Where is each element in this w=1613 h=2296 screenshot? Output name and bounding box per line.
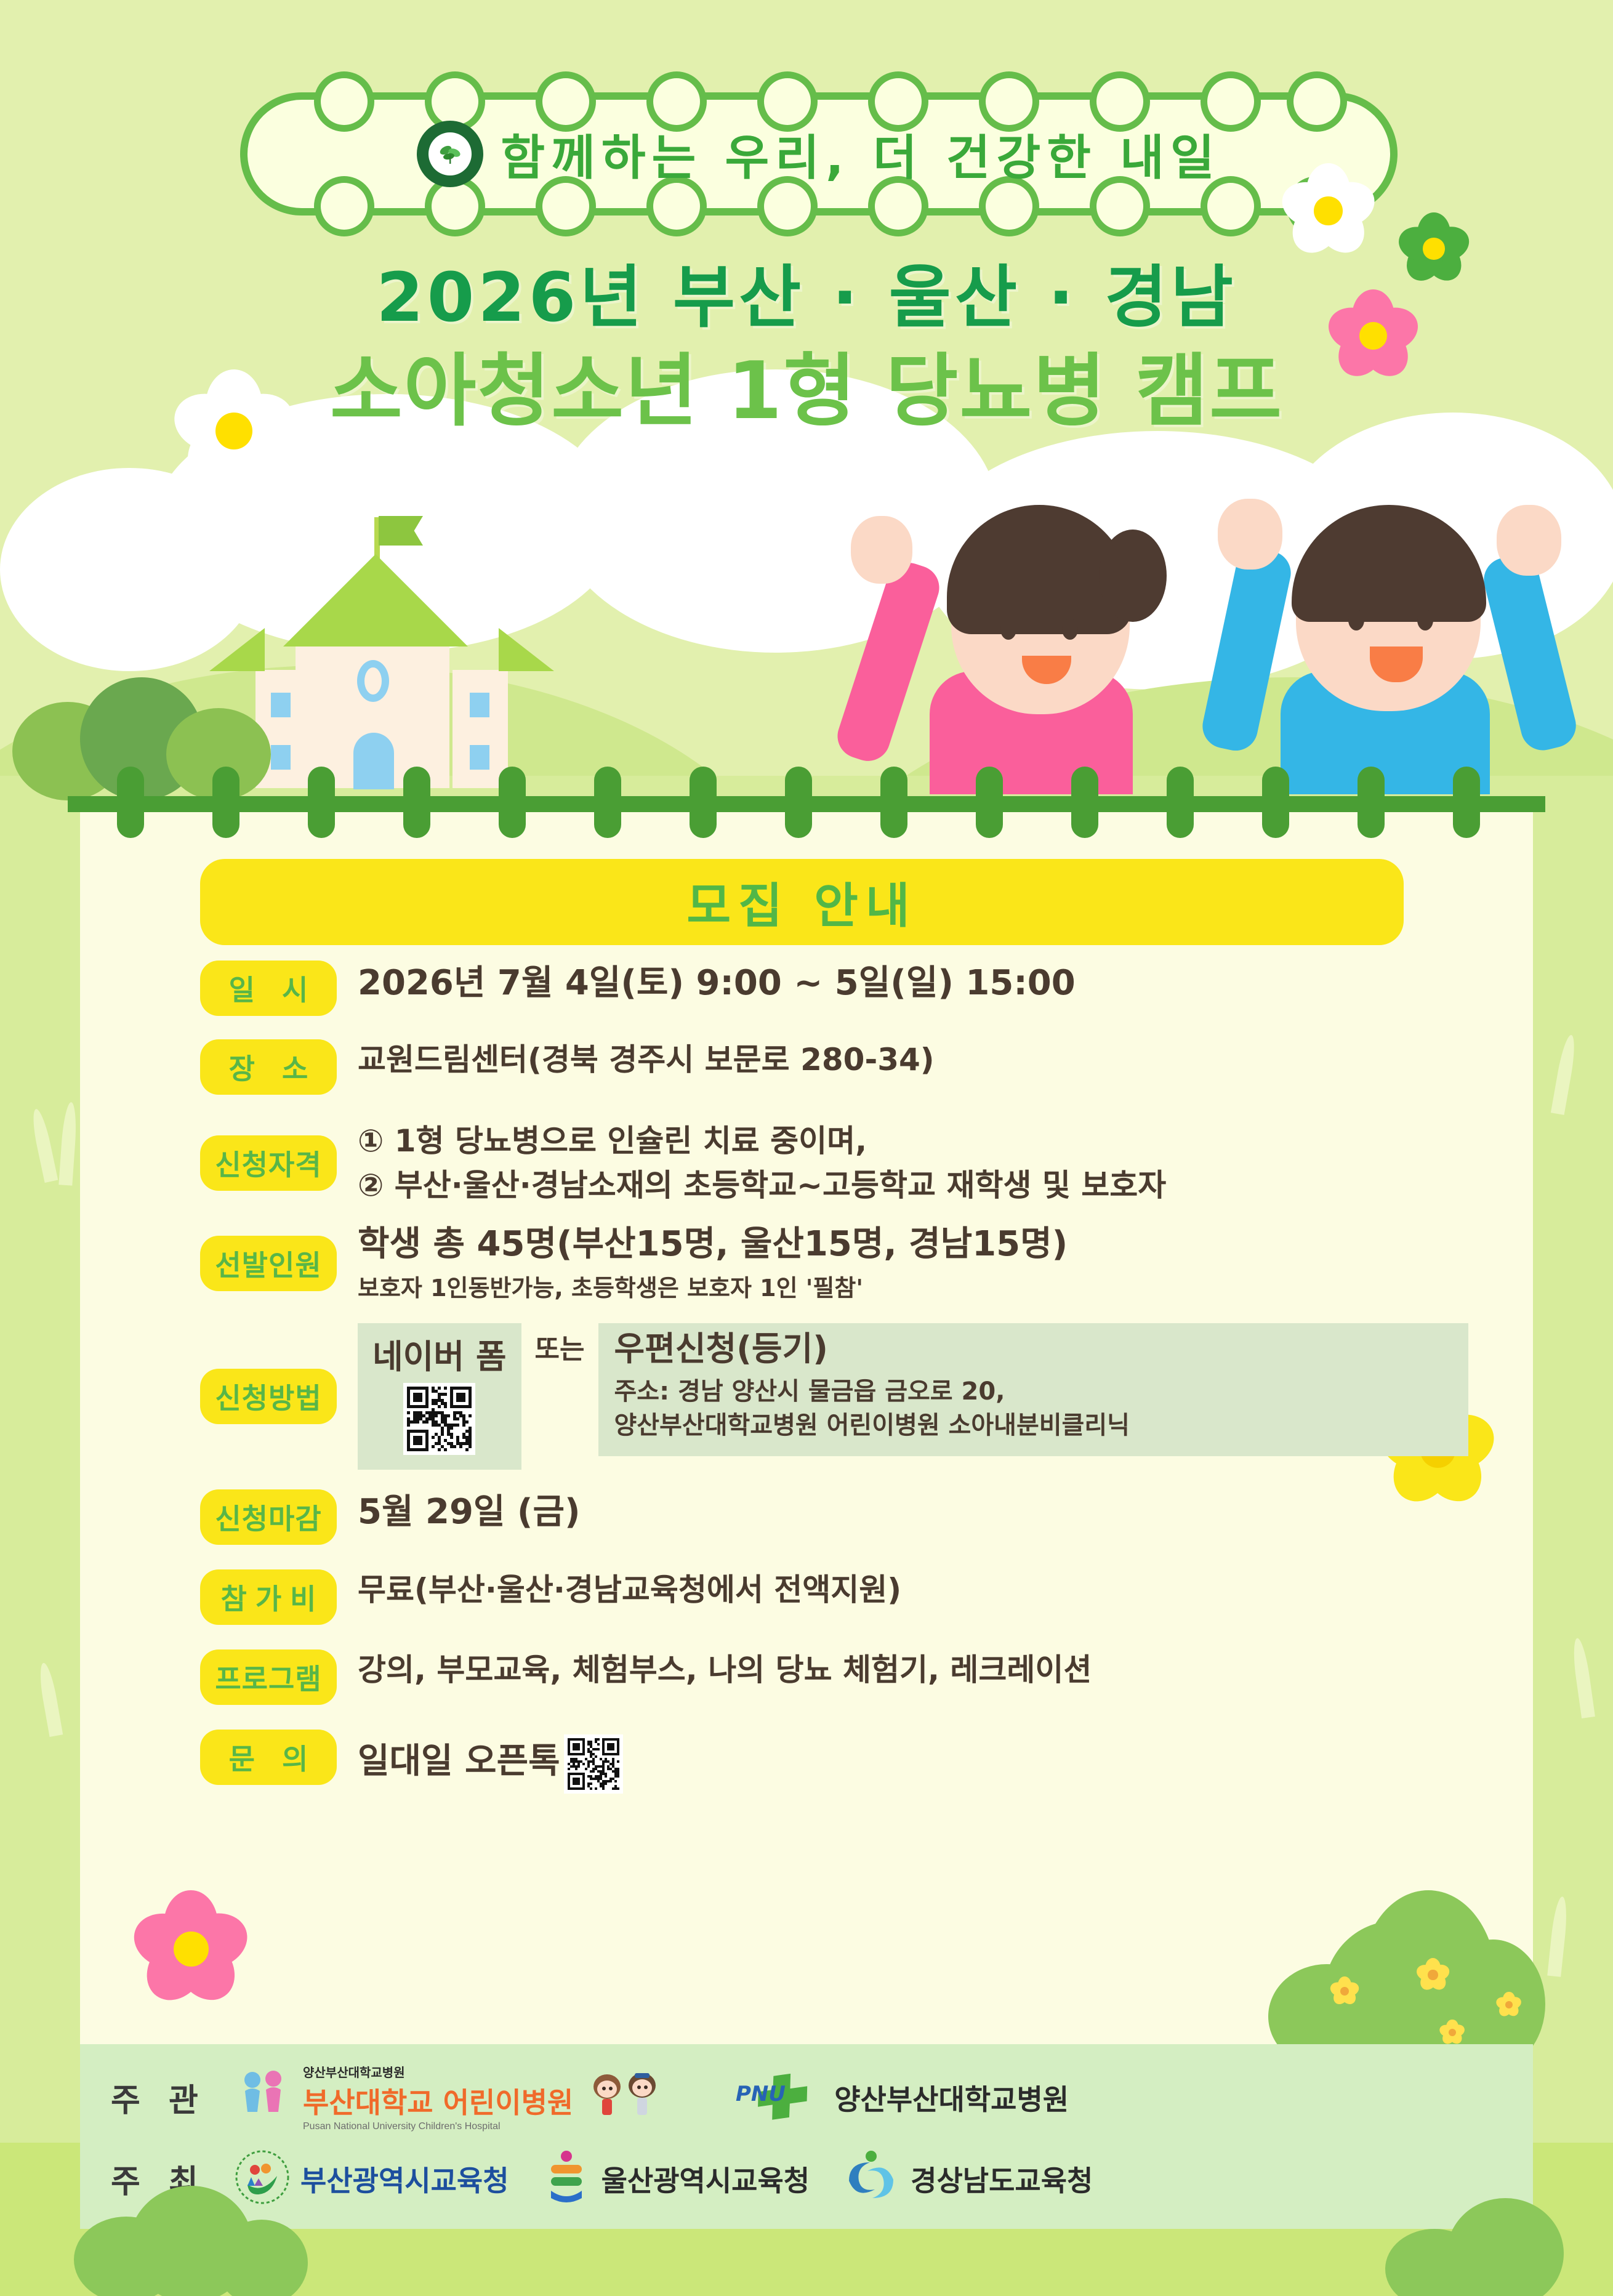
banner-slogan: 함께하는 우리, 더 건강한 내일 (501, 119, 1220, 188)
ulsan-education-logo-icon (541, 2149, 592, 2209)
fence-peg (117, 767, 144, 838)
open-chat-qr-code[interactable] (564, 1734, 623, 1794)
fence-peg (1262, 767, 1289, 838)
fence-peg (212, 767, 239, 838)
fence-peg (1071, 767, 1098, 838)
bush-right (1268, 1872, 1539, 2056)
fence-peg (1453, 767, 1480, 838)
org-busan-name: 부산광역시교육청 (300, 2159, 509, 2199)
row-label-venue: 장 소 (200, 1039, 337, 1095)
apply-post-title: 우편신청(등기) (614, 1328, 1453, 1370)
fence-peg (499, 767, 526, 838)
org-gyeongnam-education-office: 경상남도교육청 (842, 2149, 1093, 2209)
row-apply-method: 신청방법 네이버 폼 또는 우편신청(등기) 주소: 경남 양산시 물금읍 금오… (200, 1323, 1468, 1470)
bush-bottom-left (74, 2173, 308, 2296)
header-banner: 함께하는 우리, 더 건강한 내일 (240, 92, 1398, 216)
fence-peg (594, 767, 621, 838)
org-yangsan-hospital-name: 양산부산대학교병원 (834, 2077, 1069, 2118)
row-label-fee: 참가비 (200, 1569, 337, 1625)
kids-illustration (843, 468, 1570, 794)
row-value-eligibility-2: ② 부산·울산·경남소재의 초등학교~고등학교 재학생 및 보호자 (358, 1165, 1468, 1206)
kid-girl (843, 468, 1188, 794)
footer-host-label: 주 관 (111, 2074, 234, 2121)
info-table: 일 시 2026년 7월 4일(토) 9:00 ~ 5일(일) 15:00 장 … (200, 961, 1468, 1794)
hospital-mascot-icon (585, 2068, 666, 2127)
fence-peg (308, 767, 335, 838)
row-value-deadline: 5월 29일 (금) (358, 1489, 1468, 1535)
title-line-1: 2026년 부산 · 울산 · 경남 (0, 256, 1613, 340)
apply-post-block: 우편신청(등기) 주소: 경남 양산시 물금읍 금오로 20, 양산부산대학교병… (598, 1323, 1469, 1456)
naver-form-qr-code[interactable] (403, 1383, 475, 1455)
apply-or-label: 또는 (535, 1327, 585, 1366)
org-hospital-eng-top: 양산부산대학교병원 (303, 2063, 573, 2080)
apply-post-address-line1: 주소: 경남 양산시 물금읍 금오로 20, (614, 1375, 1453, 1409)
org-ulsan-education-office: 울산광역시교육청 (541, 2149, 810, 2209)
row-value-fee: 무료(부산·울산·경남교육청에서 전액지원) (358, 1569, 1468, 1610)
row-fee: 참가비 무료(부산·울산·경남교육청에서 전액지원) (200, 1569, 1468, 1625)
row-note-quota: 보호자 1인동반가능, 초등학생은 보호자 1인 '필참' (358, 1272, 1468, 1305)
row-label-date: 일 시 (200, 961, 337, 1016)
org-yangsan-pnu-hospital: PNU 양산부산대학교병원 (732, 2071, 1069, 2124)
row-date: 일 시 2026년 7월 4일(토) 9:00 ~ 5일(일) 15:00 (200, 961, 1468, 1016)
org-pnu-childrens-hospital: 양산부산대학교병원 부산대학교 어린이병원 Pusan National Uni… (234, 2063, 675, 2132)
row-program: 프로그램 강의, 부모교육, 체험부스, 나의 당뇨 체험기, 레크레이션 (200, 1649, 1468, 1705)
fence-peg (785, 767, 812, 838)
apply-naver-label: 네이버 폼 (372, 1329, 507, 1378)
apply-naver-block[interactable]: 네이버 폼 (358, 1323, 521, 1470)
row-value-venue: 교원드림센터(경북 경주시 보문로 280-34) (358, 1039, 1468, 1080)
row-eligibility: 신청자격 ① 1형 당뇨병으로 인슐린 치료 중이며, ② 부산·울산·경남소재… (200, 1121, 1468, 1206)
row-label-contact: 문 의 (200, 1730, 337, 1785)
row-label-eligibility: 신청자격 (200, 1135, 337, 1191)
title-line-2: 소아청소년 1형 당뇨병 캠프 (0, 344, 1613, 439)
fence-peg (1358, 767, 1385, 838)
pnu-logo-icon: PNU (732, 2071, 824, 2124)
row-value-program: 강의, 부모교육, 체험부스, 나의 당뇨 체험기, 레크레이션 (358, 1649, 1468, 1690)
section-header-label: 모집 안내 (686, 868, 917, 937)
footer-host-row: 주 관 양산부산대학교병원 부산대학교 어린이병원 Pusan National… (111, 2063, 1101, 2132)
apply-post-address-line2: 양산부산대학교병원 어린이병원 소아내분비클리닉 (614, 1409, 1453, 1443)
section-header-pill: 모집 안내 (200, 859, 1404, 945)
row-label-quota: 선발인원 (200, 1236, 337, 1291)
fence-peg (403, 767, 430, 838)
kid-boy (1188, 462, 1570, 794)
row-value-quota: 학생 총 45명(부산15명, 울산15명, 경남15명) (358, 1222, 1468, 1267)
row-venue: 장 소 교원드림센터(경북 경주시 보문로 280-34) (200, 1039, 1468, 1095)
gyeongnam-education-logo-icon (842, 2149, 901, 2209)
org-ulsan-name: 울산광역시교육청 (601, 2159, 810, 2199)
org-hospital-eng-bottom: Pusan National University Children's Hos… (303, 2121, 573, 2132)
childrens-hospital-logo-icon (234, 2066, 293, 2129)
camp-logo-icon (417, 121, 483, 187)
fence-peg (690, 767, 717, 838)
row-quota: 선발인원 학생 총 45명(부산15명, 울산15명, 경남15명) 보호자 1… (200, 1222, 1468, 1305)
fence-peg (976, 767, 1003, 838)
row-value-contact: 일대일 오픈톡 (358, 1739, 560, 1784)
row-label-program: 프로그램 (200, 1649, 337, 1705)
flower-pink-panel (132, 1890, 249, 2007)
row-value-eligibility-1: ① 1형 당뇨병으로 인슐린 치료 중이며, (358, 1121, 1468, 1161)
svg-text:PNU: PNU (736, 2082, 786, 2106)
poster-title: 2026년 부산 · 울산 · 경남 소아청소년 1형 당뇨병 캠프 (0, 256, 1613, 438)
row-label-apply-method: 신청방법 (200, 1369, 337, 1424)
org-gyeongnam-name: 경상남도교육청 (911, 2159, 1093, 2199)
row-deadline: 신청마감 5월 29일 (금) (200, 1489, 1468, 1545)
org-hospital-name: 부산대학교 어린이병원 (303, 2086, 573, 2119)
bush-bottom-right (1385, 2192, 1595, 2296)
poster-root: 함께하는 우리, 더 건강한 내일 2026년 부산 · 울산 · 경남 소아청… (0, 0, 1613, 2296)
row-value-date: 2026년 7월 4일(토) 9:00 ~ 5일(일) 15:00 (358, 961, 1468, 1006)
row-label-deadline: 신청마감 (200, 1489, 337, 1545)
row-contact: 문 의 일대일 오픈톡 (200, 1730, 1468, 1794)
fence-peg (880, 767, 907, 838)
fence-peg (1167, 767, 1194, 838)
